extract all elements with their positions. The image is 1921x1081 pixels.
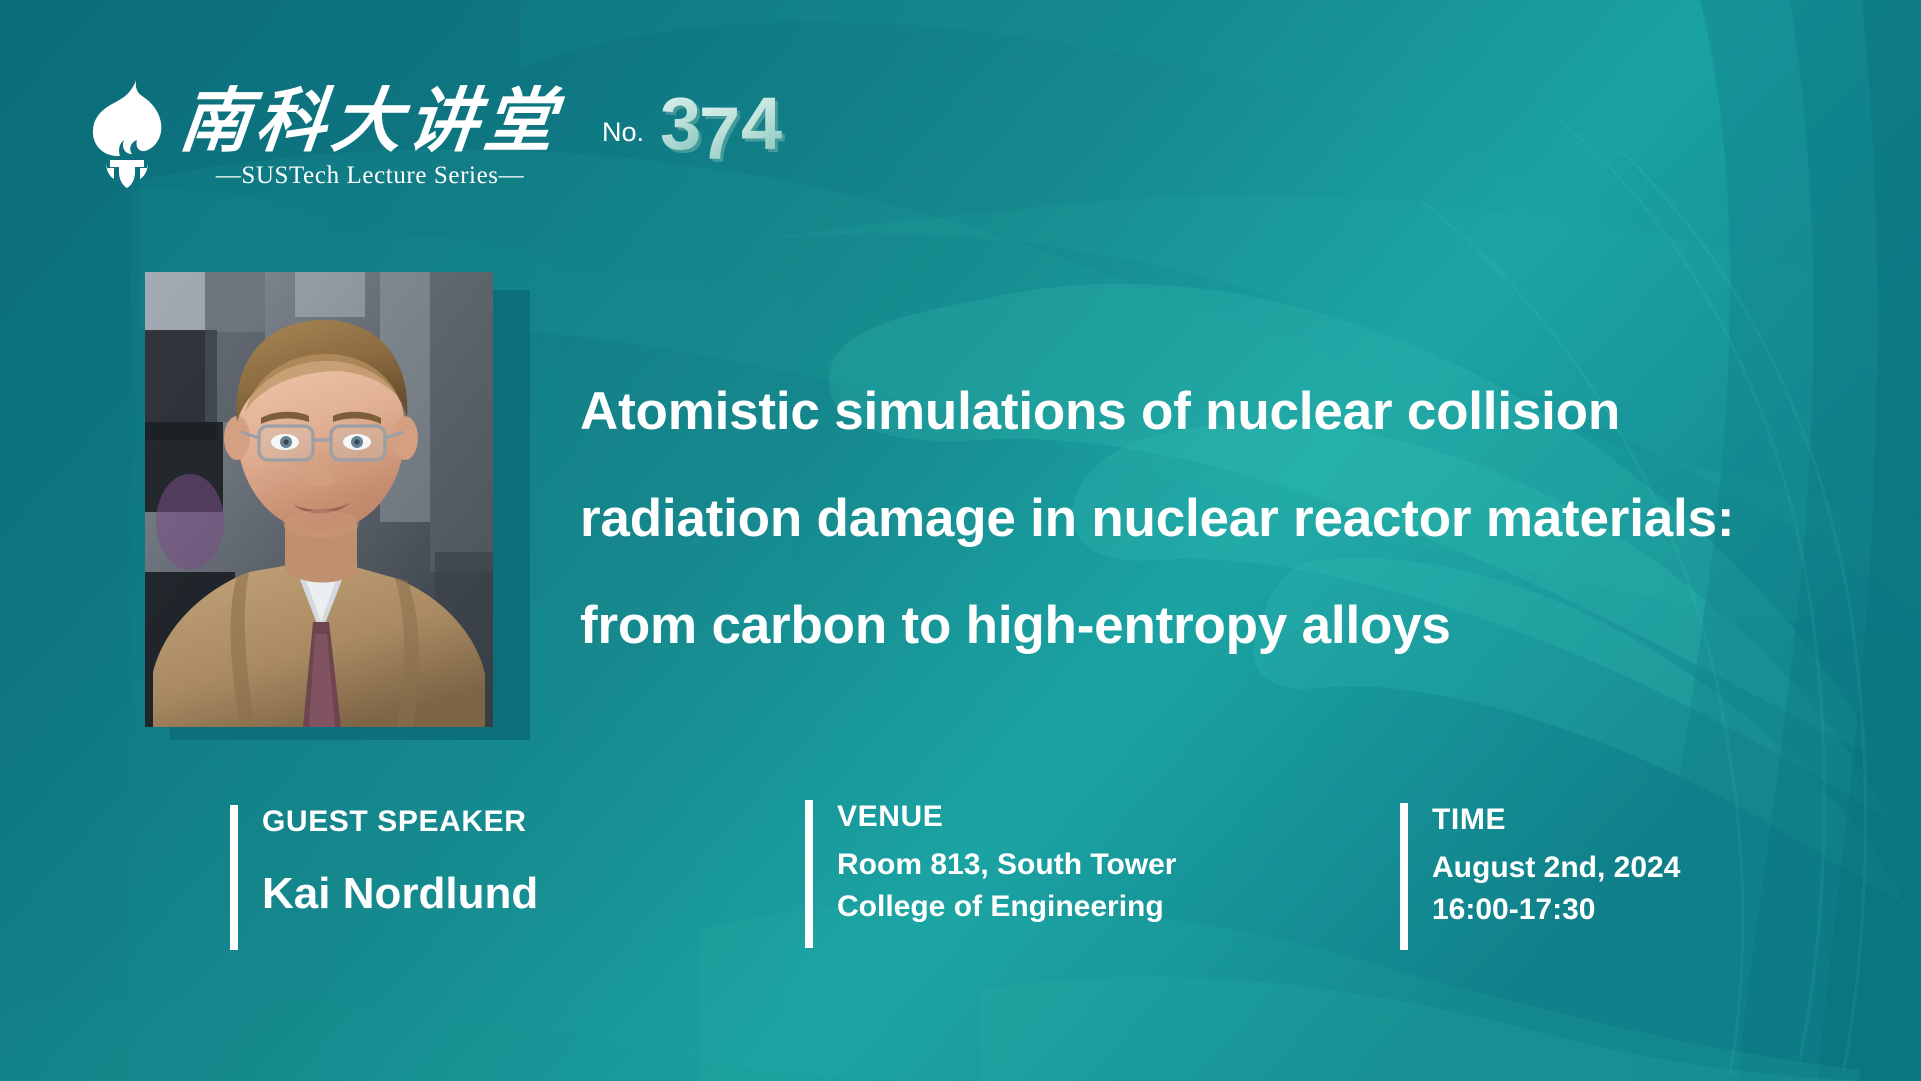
poster-header: 南科大讲堂 —SUSTech Lecture Series— No. 3 (88, 78, 796, 190)
lecture-title: Atomistic simulations of nuclear collisi… (580, 358, 1870, 679)
svg-text:7: 7 (699, 92, 740, 175)
issue-number-value: 3 7 4 3 7 4 (660, 84, 796, 180)
venue-line-2: College of Engineering (837, 886, 1176, 928)
time-date: August 2nd, 2024 (1432, 847, 1680, 889)
time-separator-bar (1400, 803, 1408, 950)
issue-number-3d-glyphs: 3 7 4 3 7 4 (660, 84, 796, 180)
speaker-separator-bar (230, 805, 238, 950)
lecture-series-en-title: —SUSTech Lecture Series— (216, 162, 524, 190)
issue-number-label: No. (602, 117, 644, 148)
issue-number-group: No. 3 7 4 3 7 (602, 84, 796, 180)
info-block-guest-speaker: GUEST SPEAKER Kai Nordlund (230, 805, 538, 950)
lecture-title-line-1: Atomistic simulations of nuclear collisi… (580, 358, 1870, 465)
venue-separator-bar (805, 800, 813, 948)
guest-speaker-label: GUEST SPEAKER (262, 805, 538, 839)
lecture-poster: 南科大讲堂 —SUSTech Lecture Series— No. 3 (0, 0, 1921, 1081)
venue-text-group: VENUE Room 813, South Tower College of E… (837, 800, 1176, 928)
sustech-torch-flame-icon (88, 78, 166, 190)
time-hours: 16:00-17:30 (1432, 889, 1680, 931)
poster-info-bar: GUEST SPEAKER Kai Nordlund VENUE Room 81… (0, 800, 1921, 990)
sustech-lecture-series-logo: 南科大讲堂 —SUSTech Lecture Series— (88, 78, 560, 190)
logo-text-group: 南科大讲堂 —SUSTech Lecture Series— (180, 89, 560, 190)
venue-label: VENUE (837, 800, 1176, 834)
svg-text:3: 3 (660, 84, 701, 165)
venue-line-1: Room 813, South Tower (837, 844, 1176, 886)
speaker-portrait-illustration (145, 272, 493, 727)
speaker-portrait (145, 272, 493, 727)
guest-speaker-name: Kai Nordlund (262, 869, 538, 919)
lecture-series-cn-title: 南科大讲堂 (176, 89, 563, 156)
time-label: TIME (1432, 803, 1680, 837)
info-block-venue: VENUE Room 813, South Tower College of E… (805, 800, 1176, 948)
svg-text:4: 4 (741, 84, 782, 165)
speaker-text-group: GUEST SPEAKER Kai Nordlund (262, 805, 538, 919)
time-text-group: TIME August 2nd, 2024 16:00-17:30 (1432, 803, 1680, 931)
lecture-title-line-3: from carbon to high-entropy alloys (580, 572, 1870, 679)
info-block-time: TIME August 2nd, 2024 16:00-17:30 (1400, 803, 1680, 950)
lecture-title-line-2: radiation damage in nuclear reactor mate… (580, 465, 1870, 572)
